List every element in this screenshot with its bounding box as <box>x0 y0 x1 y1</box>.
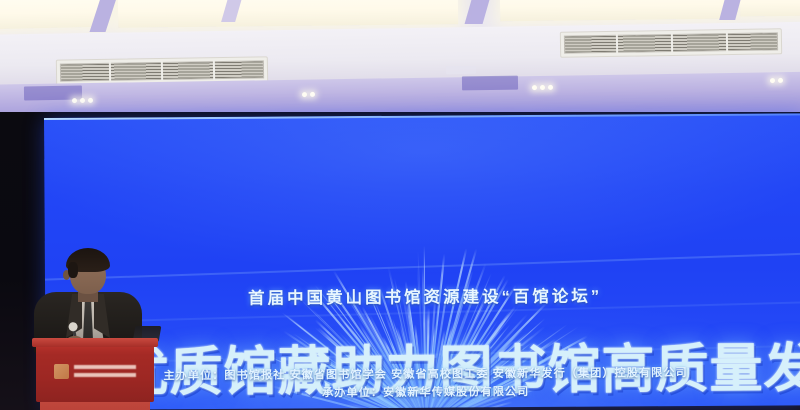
podium-top <box>32 338 158 347</box>
ceiling-spotlight <box>770 78 783 83</box>
ceiling-light-cove <box>500 0 730 21</box>
ceiling-light-cove <box>740 0 800 17</box>
ceiling-spotlight <box>532 85 553 90</box>
led-stage-screen: 首届中国黄山图书馆资源建设“百馆论坛” 优质馆藏助力图书馆高质量发展 主办单位：… <box>44 113 800 410</box>
hvac-linear-grille <box>560 28 782 57</box>
podium <box>36 344 154 402</box>
ceiling-spotlight <box>72 98 93 103</box>
ceiling-spotlight <box>302 92 315 97</box>
podium-emblem-icon <box>54 364 69 379</box>
podium-label-text <box>74 365 136 378</box>
event-subtitle: 首届中国黄山图书馆资源建设“百馆论坛” <box>45 281 800 310</box>
ceiling <box>0 0 800 126</box>
ceiling-beam <box>465 0 494 24</box>
speaker-and-podium <box>22 240 152 410</box>
podium-base <box>40 402 150 410</box>
ceiling-panel <box>446 66 476 74</box>
speaker-hair <box>66 248 110 272</box>
ceiling-panel <box>462 76 518 91</box>
ceiling-light-cove <box>118 0 458 28</box>
conference-hall-photo: 首届中国黄山图书馆资源建设“百馆论坛” 优质馆藏助力图书馆高质量发展 主办单位：… <box>0 0 800 410</box>
